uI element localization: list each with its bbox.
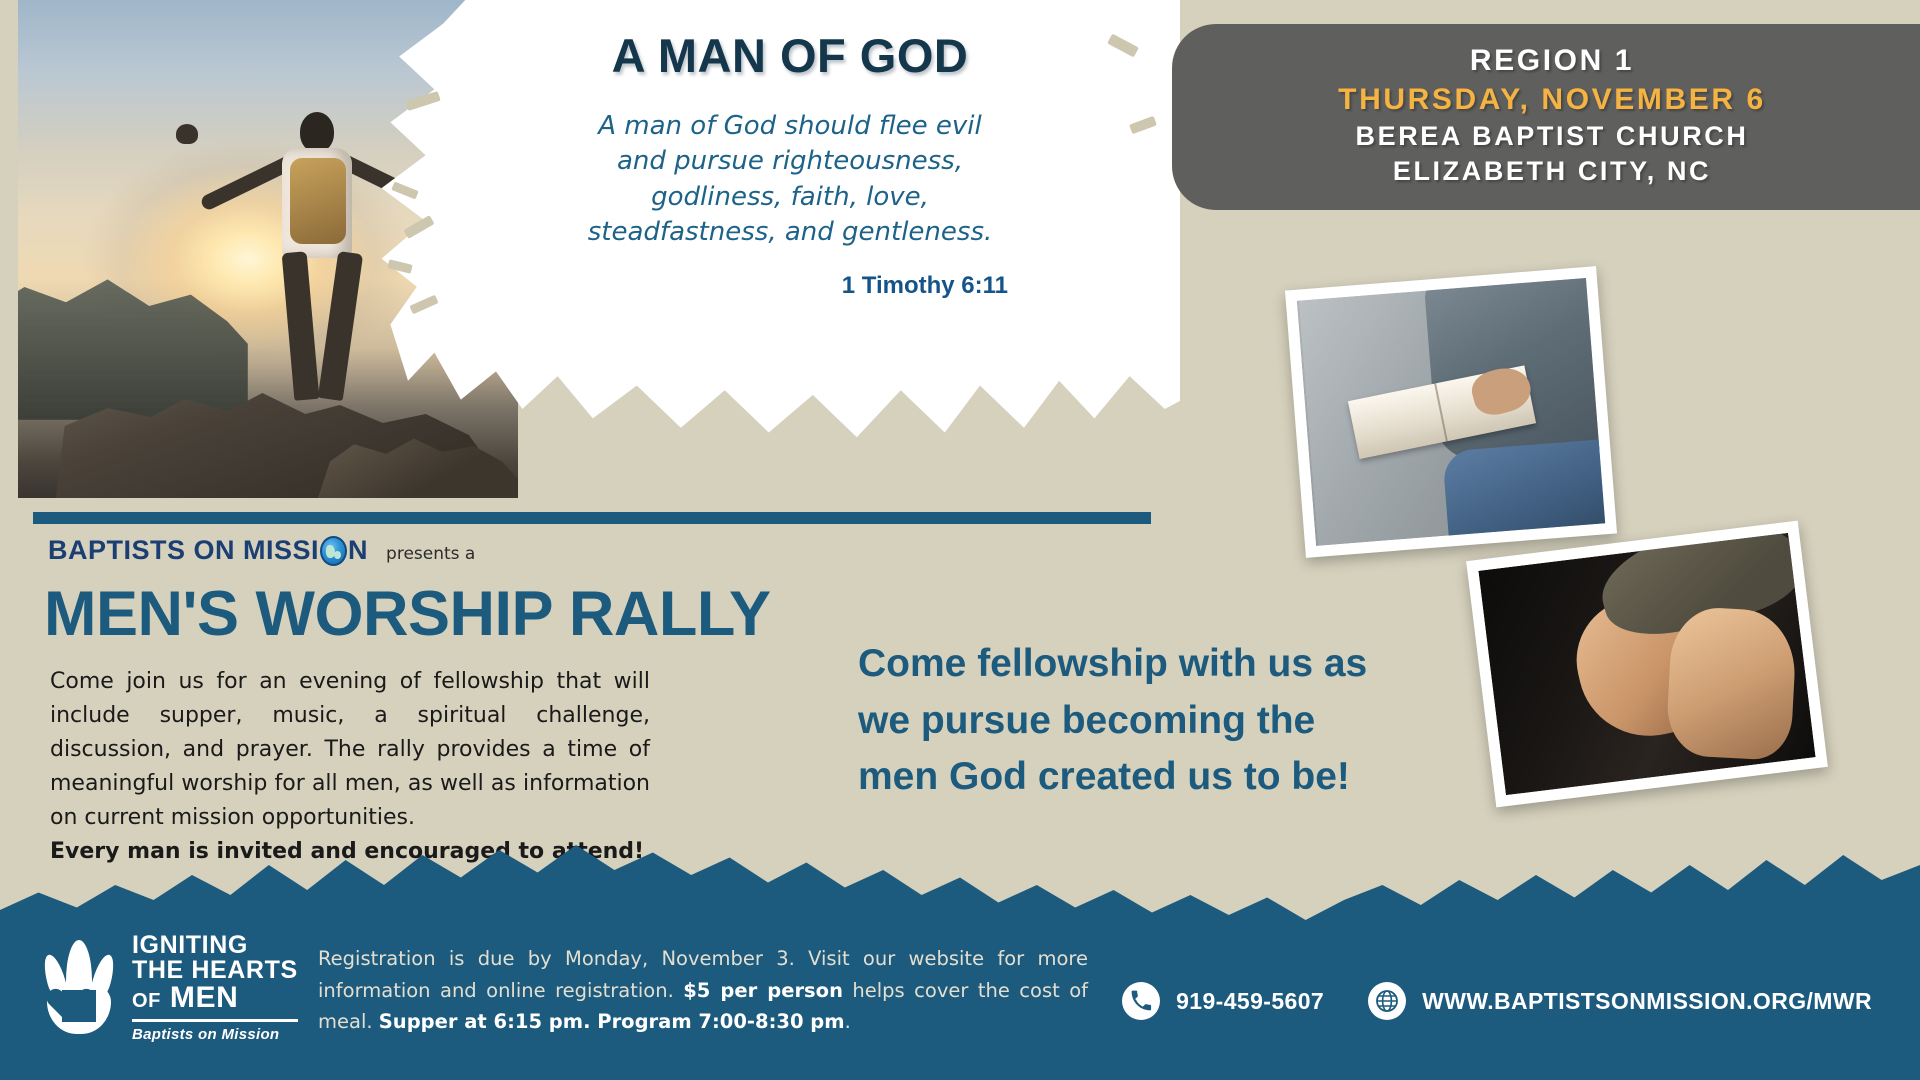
event-region: REGION 1 xyxy=(1470,41,1634,80)
verse-line: and pursue righteousness, xyxy=(560,144,1020,179)
photo-inner xyxy=(1297,278,1605,546)
logo-wordmark: IGNITING THE HEARTS OF MEN Baptists on M… xyxy=(132,933,298,1042)
event-venue: BEREA BAPTIST CHURCH xyxy=(1355,119,1748,154)
logo-tagline: Baptists on Mission xyxy=(132,1027,298,1042)
scripture-verse: A man of God should flee evil and pursue… xyxy=(560,109,1020,250)
backpack xyxy=(290,158,346,244)
title-block: A MAN OF GOD A man of God should flee ev… xyxy=(560,28,1020,300)
praying-man-photo xyxy=(1466,521,1828,808)
logo-men: MEN xyxy=(170,981,238,1014)
verse-line: steadfastness, and gentleness. xyxy=(560,215,1020,250)
head xyxy=(300,112,334,152)
globe-icon xyxy=(1368,982,1406,1020)
globe-icon xyxy=(320,536,347,566)
reg-part-3: . xyxy=(845,1010,851,1033)
page-title: MEN'S WORSHIP RALLY xyxy=(44,578,771,650)
registration-info: Registration is due by Monday, November … xyxy=(318,943,1088,1038)
left-leg xyxy=(282,251,320,401)
phone-number: 919-459-5607 xyxy=(1176,988,1324,1015)
verse-line: A man of God should flee evil xyxy=(560,109,1020,144)
callout-line: men God created us to be! xyxy=(858,749,1458,806)
org-name-part2: N xyxy=(348,535,368,566)
phone-icon xyxy=(1122,982,1160,1020)
callout-line: we pursue becoming the xyxy=(858,693,1458,750)
igniting-hearts-logo: IGNITING THE HEARTS OF MEN Baptists on M… xyxy=(40,933,298,1042)
logo-of: OF xyxy=(132,990,161,1012)
fellowship-callout: Come fellowship with us as we pursue bec… xyxy=(858,636,1458,806)
logo-line-3: OF MEN xyxy=(132,983,298,1013)
logo-line-1: IGNITING xyxy=(132,933,298,958)
event-location: ELIZABETH CITY, NC xyxy=(1393,154,1711,189)
logo-line-2: THE HEARTS xyxy=(132,958,298,983)
mans-jeans xyxy=(1443,439,1606,546)
bible-reading-photo xyxy=(1285,266,1617,558)
verse-reference: 1 Timothy 6:11 xyxy=(560,272,1020,300)
heart-cutout xyxy=(62,990,96,1022)
photo-inner xyxy=(1478,533,1815,795)
brand-row: BAPTISTS ON MISSIN presents a xyxy=(48,535,475,566)
verse-line: godliness, faith, love, xyxy=(560,180,1020,215)
flyer-title: A MAN OF GOD xyxy=(560,28,1020,83)
reg-schedule: Supper at 6:15 pm. Program 7:00-8:30 pm xyxy=(379,1010,845,1033)
folded-hands xyxy=(1665,606,1797,761)
left-hand xyxy=(176,124,198,144)
presents-label: presents a xyxy=(386,544,475,564)
flame-heart-icon xyxy=(40,940,118,1036)
organization-name: BAPTISTS ON MISSIN xyxy=(48,535,368,566)
event-date: THURSDAY, NOVEMBER 6 xyxy=(1338,80,1766,119)
flyer-canvas: A MAN OF GOD A man of God should flee ev… xyxy=(0,0,1920,1080)
event-details-box: REGION 1 THURSDAY, NOVEMBER 6 BEREA BAPT… xyxy=(1172,24,1920,210)
callout-line: Come fellowship with us as xyxy=(858,636,1458,693)
horizontal-divider xyxy=(33,512,1151,524)
contact-row: 919-459-5607 WWW.BAPTISTSONMISSION.ORG/M… xyxy=(1122,982,1872,1020)
logo-rule xyxy=(132,1019,298,1022)
org-name-part1: BAPTISTS ON MISSI xyxy=(48,535,319,566)
website-url: WWW.BAPTISTSONMISSION.ORG/MWR xyxy=(1422,988,1872,1015)
website-contact[interactable]: WWW.BAPTISTSONMISSION.ORG/MWR xyxy=(1368,982,1872,1020)
right-leg xyxy=(318,251,363,401)
description-paragraph: Come join us for an evening of fellowshi… xyxy=(50,669,650,830)
description-text: Come join us for an evening of fellowshi… xyxy=(50,665,650,870)
phone-contact[interactable]: 919-459-5607 xyxy=(1122,982,1324,1020)
reg-price: $5 per person xyxy=(683,979,843,1002)
